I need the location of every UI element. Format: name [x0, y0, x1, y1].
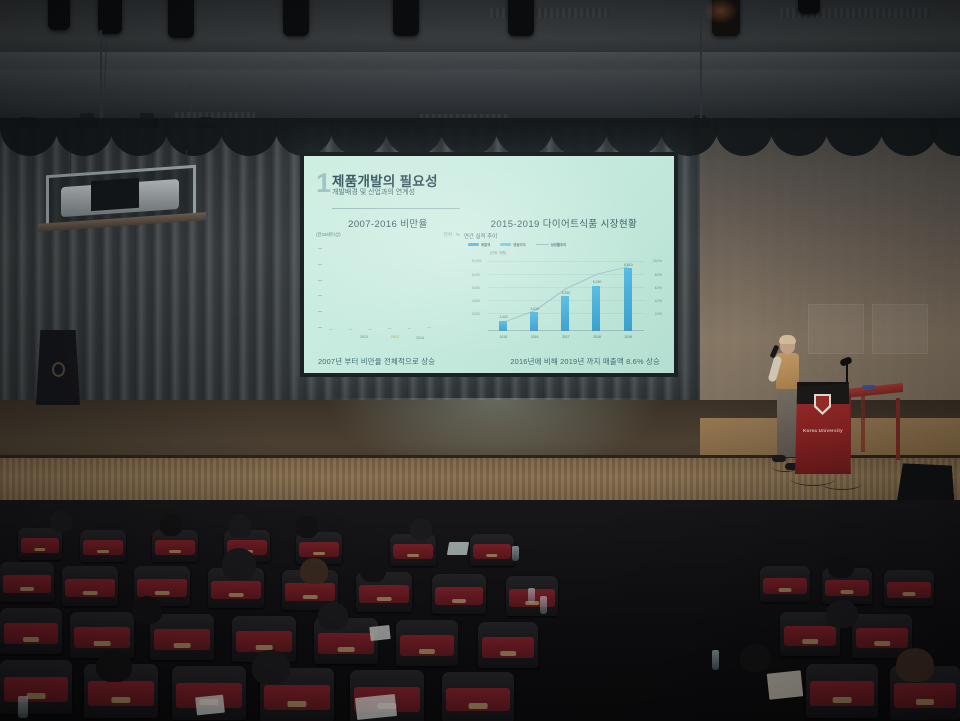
bar-value-label: 1,420: [499, 315, 508, 319]
seat: [150, 614, 214, 660]
stage-light-icon: [508, 0, 534, 36]
wall-panel: [872, 304, 928, 354]
lectern-emblem-icon: [52, 362, 65, 377]
bar: [530, 312, 538, 331]
ceiling-beam-upper: [0, 52, 960, 68]
stage-light-icon: [283, 0, 309, 36]
bar-category-label: 2018: [593, 335, 601, 339]
right-chart: 2015-2019 다이어트식품 시장현황 연간 실적 추이 매출액 영업이익 …: [462, 216, 666, 345]
wall-panel: [808, 304, 864, 354]
right-chart-caption: 2016년에 비해 2019년 까지 매출액 8.6% 상승: [510, 356, 660, 367]
cable: [772, 462, 798, 472]
audience-head: [360, 556, 386, 582]
left-chart-axis-note: (만19세이상): [316, 232, 341, 238]
seat: [806, 664, 878, 718]
bar-category-label: 2016: [531, 335, 539, 339]
audience-head: [50, 510, 72, 532]
audience-head: [160, 514, 182, 536]
legend-item: 영업이익: [500, 242, 525, 247]
audience-head: [828, 554, 854, 578]
legend-swatch-icon: [468, 243, 479, 246]
stage-light-icon: [712, 0, 740, 36]
seat: [18, 528, 62, 560]
seat: [432, 574, 486, 614]
audience-head: [740, 644, 770, 672]
slide-charts: 2007-2016 비만율 (만19세이상) 단위 : % — — — — —: [314, 216, 666, 345]
seat: [396, 620, 458, 666]
audience-head: [896, 648, 934, 682]
seat: [478, 622, 538, 668]
legend-swatch-icon: [500, 243, 511, 246]
seat: [62, 566, 118, 606]
right-chart-plot: (단위: 억원) 10,0008,000 6,0004,000 2,000 10…: [488, 258, 644, 331]
handout: [369, 625, 390, 641]
projection-screen: 1 제품개발의 필요성 개발배경 및 산업과의 연계성 2007-2016 비만…: [304, 156, 674, 373]
water-bottle: [540, 596, 547, 614]
bar: [592, 286, 600, 331]
side-table: [845, 386, 903, 472]
stage-light-icon: [798, 0, 820, 14]
audience-head: [228, 514, 252, 538]
bar-category-label: 2019: [625, 335, 633, 339]
stage-light-icon: [98, 0, 122, 34]
marker-pen: [862, 385, 876, 389]
handout: [195, 695, 225, 716]
seat: [0, 562, 54, 602]
stage-light-icon: [393, 0, 419, 36]
stage-light-icon: [48, 0, 70, 30]
left-chart: 2007-2016 비만율 (만19세이상) 단위 : % — — — — —: [314, 216, 462, 345]
audience-head: [410, 518, 432, 540]
legend-item: 성장률추이: [536, 242, 567, 247]
slide-divider: [332, 208, 460, 209]
bar-value-label: 4,830: [562, 291, 571, 295]
audience-head: [826, 600, 858, 628]
slide-subtitle: 개발배경 및 산업과의 연계성: [332, 187, 415, 197]
water-bottle: [712, 650, 719, 670]
seat: [70, 612, 134, 658]
projector-lens-block: [91, 178, 139, 211]
bar: [561, 296, 569, 331]
handout: [355, 694, 397, 720]
presenter-legs: [777, 387, 798, 457]
floor-monitor-speaker: [894, 460, 955, 504]
university-crest-icon: [814, 394, 831, 415]
seat: [470, 534, 514, 566]
bar: [624, 268, 632, 331]
audience-head: [296, 516, 318, 538]
seat: [390, 534, 436, 566]
water-bottle: [18, 696, 28, 718]
audience-area: [0, 500, 960, 721]
audience-head: [300, 558, 328, 584]
seat: [80, 530, 126, 562]
bar-category-label: 2017: [562, 335, 570, 339]
projection-screen-frame: 1 제품개발의 필요성 개발배경 및 산업과의 연계성 2007-2016 비만…: [300, 152, 678, 377]
audience-head: [96, 650, 132, 682]
seat: [0, 608, 62, 654]
presenter-shoe: [772, 455, 786, 462]
right-chart-axis-note: (단위: 억원): [490, 250, 507, 255]
presenter-hair: [779, 335, 796, 344]
podium-label: Korea University: [795, 428, 851, 433]
seat: [760, 566, 810, 602]
audience-head: [132, 596, 162, 624]
laptop: [447, 542, 469, 555]
presentation-slide: 1 제품개발의 필요성 개발배경 및 산업과의 연계성 2007-2016 비만…: [304, 156, 674, 373]
cable: [822, 478, 862, 490]
seat: [442, 672, 514, 721]
seat: [884, 570, 934, 606]
right-chart-title: 2015-2019 다이어트식품 시장현황: [462, 216, 666, 230]
legend-line-icon: [536, 244, 549, 245]
handout: [767, 670, 804, 699]
audience-head: [252, 650, 290, 684]
slide-number: 1: [316, 170, 331, 197]
audience-head: [318, 602, 348, 630]
seat: [0, 660, 72, 714]
left-chart-caption: 2007년 부터 비만율 전체적으로 상승: [318, 356, 435, 367]
bar-value-label: 6,240: [593, 280, 602, 284]
bar-value-label: 2,610: [530, 307, 539, 311]
legend-item: 매출액: [468, 242, 490, 247]
projector-hanger: [70, 150, 71, 174]
left-chart-unit-note: 단위 : %: [444, 232, 460, 238]
podium: Korea University: [795, 382, 851, 474]
audience-head: [222, 548, 256, 580]
stage-light-icon: [168, 0, 194, 38]
auditorium-photo: 1 제품개발의 필요성 개발배경 및 산업과의 연계성 2007-2016 비만…: [0, 0, 960, 721]
bar-value-label: 8,610: [624, 263, 633, 267]
right-chart-subtitle: 연간 실적 추이: [464, 232, 497, 240]
left-chart-title: 2007-2016 비만율: [314, 216, 462, 230]
bar-category-label: 2015: [500, 335, 508, 339]
left-chart-plot: — — — — — — 2010 2013 2016: [318, 242, 458, 341]
right-chart-legend: 매출액 영업이익 성장률추이: [468, 242, 566, 247]
water-bottle: [512, 546, 519, 561]
water-bottle: [528, 588, 535, 603]
